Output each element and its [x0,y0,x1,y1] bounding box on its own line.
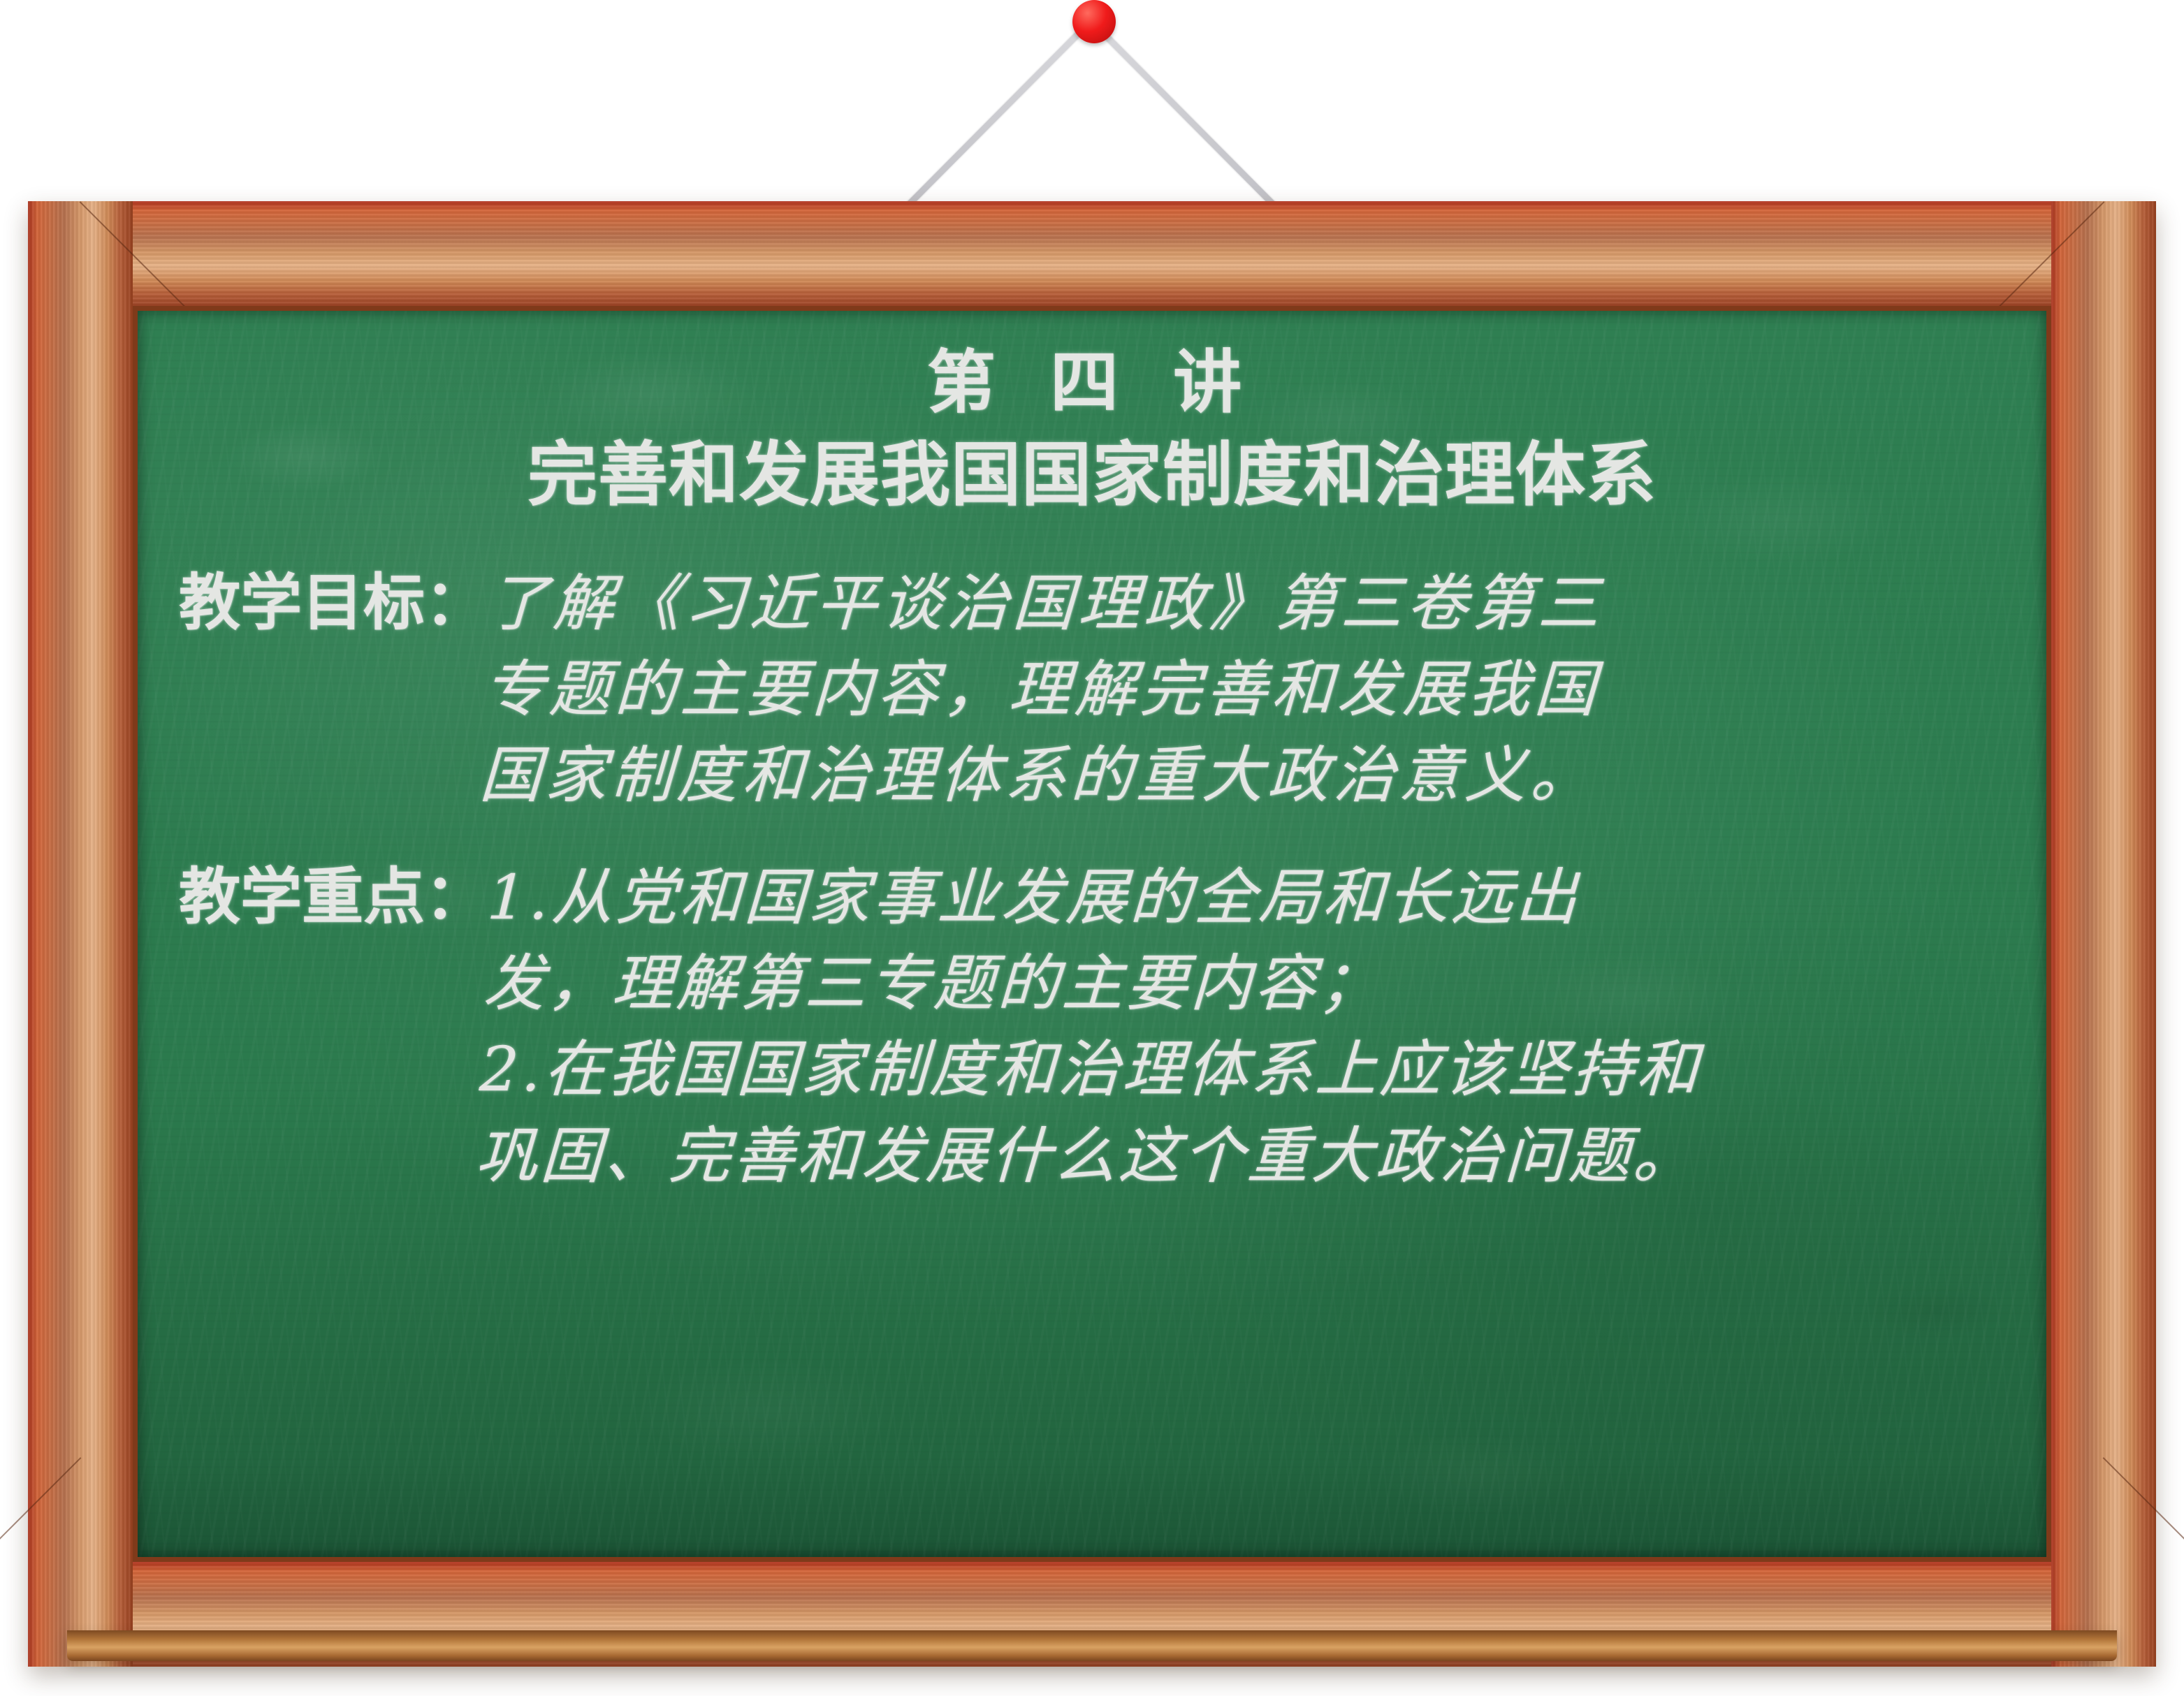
section-teaching-objectives: 教学目标： 了解《习近平谈治国理政》第三卷第三 专题的主要内容，理解完善和发展我… [179,560,2005,819]
page-subtitle: 完善和发展我国国家制度和治理体系 [179,430,2005,520]
frame-slat-right [2051,201,2156,1667]
slide-canvas: 第 四 讲 完善和发展我国国家制度和治理体系 教学目标： 了解《习近平谈治国理政… [0,0,2184,1696]
key-point-1-line-1: 1.从党和国家事业发展的全局和长远出 [486,854,2005,940]
section-body-objectives: 了解《习近平谈治国理政》第三卷第三 专题的主要内容，理解完善和发展我国 国家制度… [478,560,2005,819]
page-title: 第 四 讲 [179,341,2005,426]
chalkboard-content: 第 四 讲 完善和发展我国国家制度和治理体系 教学目标： 了解《习近平谈治国理政… [133,306,2051,1562]
section-label-key-points: 教学重点： [179,854,489,1199]
key-point-1-line-2: 发，理解第三专题的主要内容； [481,940,2001,1026]
frame-slat-left [28,201,133,1667]
objectives-line-2: 专题的主要内容，理解完善和发展我国 [481,646,2001,732]
key-point-2-line-1: 2.在我国国家制度和治理体系上应该坚持和 [478,1026,1997,1112]
chalkboard-surface: 第 四 讲 完善和发展我国国家制度和治理体系 教学目标： 了解《习近平谈治国理政… [133,306,2051,1562]
chalk-tray [67,1630,2117,1661]
key-point-2-line-2: 巩固、完善和发展什么这个重大政治问题。 [474,1113,1994,1199]
section-label-objectives: 教学目标： [179,560,489,819]
blackboard-wooden-frame: 第 四 讲 完善和发展我国国家制度和治理体系 教学目标： 了解《习近平谈治国理政… [28,201,2156,1667]
section-teaching-key-points: 教学重点： 1.从党和国家事业发展的全局和长远出 发，理解第三专题的主要内容； … [179,854,2005,1199]
objectives-line-3: 国家制度和治理体系的重大政治意义。 [478,732,1997,818]
section-body-key-points: 1.从党和国家事业发展的全局和长远出 发，理解第三专题的主要内容； 2.在我国国… [474,854,2005,1199]
red-pin-icon [1072,0,1116,43]
frame-slat-top [28,201,2156,306]
objectives-line-1: 了解《习近平谈治国理政》第三卷第三 [486,560,2005,646]
